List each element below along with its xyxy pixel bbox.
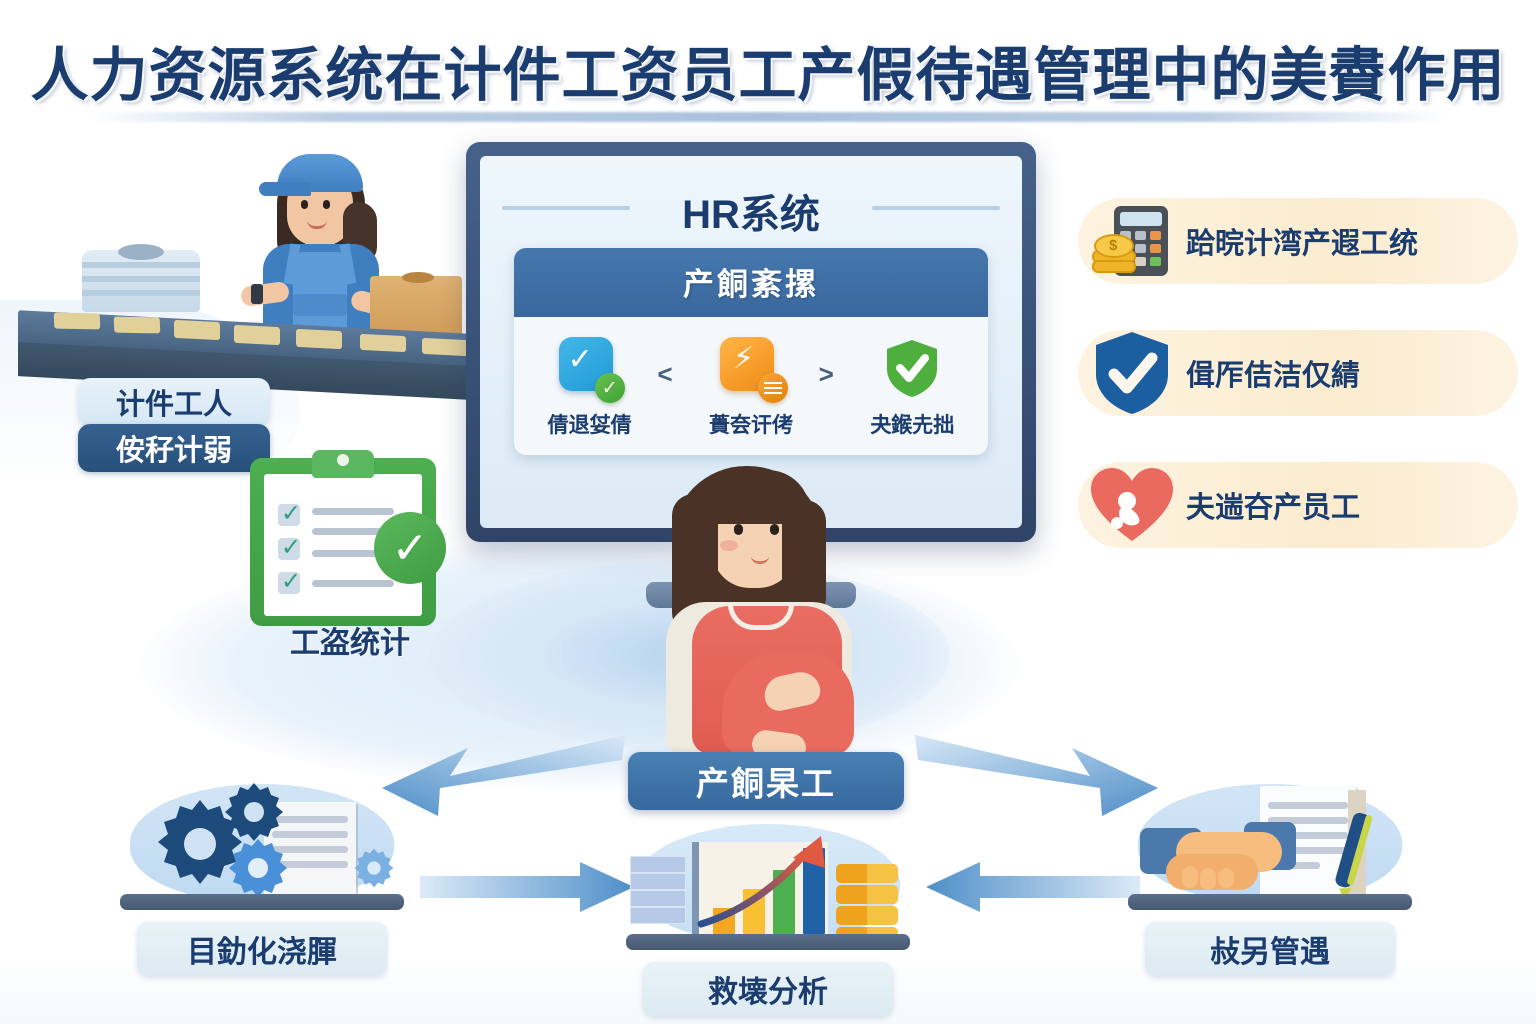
fabric-stack-icon [82, 250, 200, 312]
feature-row-2-text: 偮厏佶洁仅綪 [1186, 352, 1360, 394]
piecework-worker-scene [30, 140, 460, 410]
title-underline [88, 112, 1448, 122]
node-automation-label: 目釛化浇腪 [137, 922, 387, 976]
maternity-panel: 产餇紊摞 ✓ ✓ 倩退姇倩 < ⚡ [514, 248, 988, 455]
panel-column-3-label: 夬鍭圥拙 [845, 409, 980, 439]
chart-trend-arrow-icon [693, 828, 843, 936]
label-piecework-count-text: 侒秄计弱 [116, 427, 232, 469]
chart-plot-area [692, 842, 828, 934]
hr-system-heading-row: HR系统 [480, 182, 1022, 240]
ledger-stack-icon [630, 856, 686, 924]
feature-row-3-text: 夫遄夻产员工 [1186, 484, 1360, 526]
panel-column-1-label: 倩退姇倩 [522, 409, 657, 439]
label-maternity-employee: 产餇杲工 [628, 752, 904, 810]
orange-document-search-icon: ⚡ [720, 337, 782, 399]
page-title-container: 人力资源系统在计件工资员工产假待遇管理中的美賮作用 [0, 28, 1536, 112]
panel-separator-2: > [819, 337, 845, 390]
arrow-contract-to-analysis [920, 862, 1140, 922]
feature-row-2[interactable]: 偮厏佶洁仅綪 [1078, 330, 1518, 416]
node-contract-label: 敊另管遇 [1145, 922, 1395, 976]
gears-document-icon [112, 782, 412, 912]
node-automation[interactable]: 目釛化浇腪 [112, 782, 412, 976]
panel-column-3[interactable]: 夬鍭圥拙 [845, 337, 980, 439]
node-contract[interactable]: 敊另管遇 [1120, 782, 1420, 976]
panel-column-1[interactable]: ✓ ✓ 倩退姇倩 [522, 337, 657, 439]
green-shield-check-icon [881, 337, 943, 399]
blue-check-square-icon: ✓ ✓ [559, 337, 621, 399]
maternity-panel-title: 产餇紊摞 [514, 248, 988, 317]
panel-separator-1: < [657, 337, 683, 390]
infographic-canvas: 人力资源系统在计件工资员工产假待遇管理中的美賮作用 [0, 0, 1536, 1024]
pen-icon [1320, 808, 1380, 904]
green-check-badge-icon: ✓ [595, 373, 625, 403]
label-wage-statistics: 工盗统计 [250, 618, 450, 662]
label-piecework-count: 侒秄计弱 [78, 424, 270, 472]
heart-baby-icon [1078, 465, 1186, 545]
clipboard-checklist-illustration: ✓ ✓ ✓ ✓ [244, 446, 450, 630]
feature-row-1[interactable]: $ 跲晥计湾产遐工统 [1078, 198, 1518, 284]
page-title: 人力资源系统在计件工资员工产假待遇管理中的美賮作用 [30, 28, 1505, 112]
calculator-coins-icon: $ [1078, 204, 1186, 278]
feature-row-1-text: 跲晥计湾产遐工统 [1186, 220, 1418, 262]
handshake-contract-icon [1120, 782, 1420, 912]
label-piecework-worker-text: 计件工人 [116, 381, 232, 423]
label-maternity-employee-text: 产餇杲工 [696, 757, 836, 805]
clipboard-approved-badge: ✓ [374, 512, 446, 584]
hr-system-heading: HR系统 [682, 193, 820, 237]
panel-column-2[interactable]: ⚡ 蕢夽讦侤 [683, 337, 818, 439]
bar-chart-growth-icon [618, 822, 918, 952]
orange-data-badge-icon [758, 373, 788, 403]
pregnant-employee-illustration [636, 456, 896, 756]
feature-row-3[interactable]: 夫遄夻产员工 [1078, 462, 1518, 548]
heading-rule-right [872, 206, 1000, 210]
label-wage-statistics-text: 工盗统计 [290, 627, 410, 660]
panel-column-2-label: 蕢夽讦侤 [683, 409, 818, 439]
heading-rule-left [502, 206, 630, 210]
maternity-panel-body: ✓ ✓ 倩退姇倩 < ⚡ [514, 317, 988, 455]
node-analysis[interactable]: 救壊分析 [618, 822, 918, 1016]
arrow-automation-to-analysis [420, 862, 640, 922]
shield-check-icon [1078, 330, 1186, 416]
node-analysis-label: 救壊分析 [643, 962, 893, 1016]
label-piecework-worker: 计件工人 [78, 378, 270, 426]
